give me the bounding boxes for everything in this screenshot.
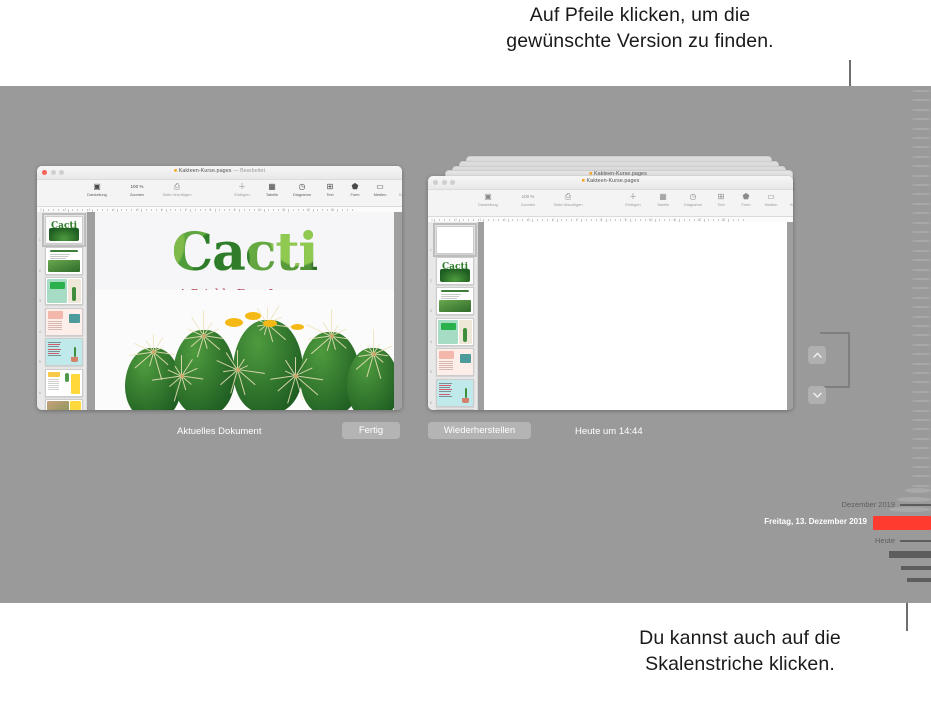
thumbnail-preview [46,400,82,410]
timeline-tick[interactable] [911,184,931,186]
thumbnail-pink-panel[interactable] [436,348,474,376]
cactus-areole [330,334,334,338]
next-version-button[interactable] [808,386,826,404]
timeline-tick[interactable] [911,231,931,233]
version-window-canvas[interactable] [478,222,793,410]
thumbnail-photo-panel[interactable] [45,399,83,410]
callout-top-text: Auf Pfeile klicken, um die gewünschte Ve… [420,2,860,54]
timeline-tick[interactable] [911,137,931,139]
toolbar-darstellung[interactable]: ▣ Darstellung [77,182,117,197]
thumbnail-preview [46,309,82,335]
callout-bottom-text: Du kannst auch auf die Skalenstriche kli… [560,625,920,677]
timeline-tick[interactable] [911,156,931,158]
thumbnail-intro-green[interactable] [45,247,83,275]
timeline-tick[interactable] [911,240,931,242]
restore-button[interactable]: Wiederherstellen [428,422,531,439]
timeline-tick[interactable] [911,146,931,148]
timeline-tick[interactable] [911,419,931,421]
version-toolbar-darstellung[interactable]: ▣ Darstellung [468,192,508,207]
title-edited-state: Bearbeitet [240,168,265,174]
timeline-tick[interactable] [911,203,931,205]
thumbnail-number: 3 [430,309,432,313]
thumbnail-teal-panel[interactable] [45,338,83,366]
timeline-tick[interactable] [907,578,931,582]
timeline-tick[interactable] [911,438,931,440]
timeline-tick-dezember[interactable] [900,504,931,506]
timeline-tick[interactable] [911,372,931,374]
timeline-tick-heute[interactable] [900,540,931,542]
thumbnail-number: 1 [430,248,432,252]
timeline-tick[interactable] [911,391,931,393]
timeline-label-heute[interactable]: Heute [875,536,895,545]
thumbnail-number: 4 [39,330,41,334]
title-separator: — [233,168,238,174]
thumbnail-green-panel[interactable] [436,318,474,346]
timeline-tick[interactable] [911,428,931,430]
version-toolbar-zoomen[interactable]: 100 % Zoomen [508,192,548,207]
current-document-label: Aktuelles Dokument [177,426,261,437]
cacti-cover: Cacti A Prickle Free Lesson [95,212,394,410]
timeline-tick[interactable] [911,118,931,120]
timeline-tick[interactable] [911,457,931,459]
current-window-sidebar[interactable]: CactiA Prickle Free Lesson1234567 [37,212,87,410]
thumbnail-preview: CactiA Prickle Free Lesson [437,258,473,284]
version-timeline-scale[interactable]: Dezember 2019Freitag, 13. Dezember 2019H… [871,86,931,603]
zoom-value-label: 100 % [117,182,157,191]
timeline-tick[interactable] [911,485,931,487]
timeline-tick[interactable] [889,551,931,558]
zoom-icon: 100 % [508,192,548,201]
done-button[interactable]: Fertig [342,422,400,439]
timeline-label-selected[interactable]: Freitag, 13. Dezember 2019 [764,517,867,526]
timeline-tick[interactable] [911,475,931,477]
chevron-up-icon [813,352,822,358]
timeline-tick[interactable] [911,353,931,355]
thumbnail-yellow-panel[interactable] [436,409,474,410]
screenshot-root: Auf Pfeile klicken, um die gewünschte Ve… [0,0,931,702]
timeline-tick[interactable] [911,193,931,195]
thumbnail-preview [46,248,82,274]
timeline-tick[interactable] [911,363,931,365]
timeline-selected-marker[interactable] [873,516,931,530]
timeline-tick[interactable] [911,334,931,336]
thumbnail-number: 6 [39,391,41,395]
chevron-down-icon [813,392,822,398]
thumbnail-number: 6 [430,401,432,405]
timeline-tick[interactable] [911,306,931,308]
timeline-tick[interactable] [911,466,931,468]
thumbnail-number: 4 [430,340,432,344]
cactus-bloom [263,320,277,327]
timeline-tick[interactable] [911,259,931,261]
version-window-toolbar[interactable]: ▣ Darstellung 100 % Zoomen ⎙ Seite hinzu… [428,190,793,217]
timeline-tick[interactable] [911,344,931,346]
timeline-tick[interactable] [911,175,931,177]
thumbnail-cover-cacti[interactable]: CactiA Prickle Free Lesson [436,257,474,285]
thumbnail-number: 2 [39,269,41,273]
cactus-areole [202,334,206,338]
unsaved-dot-icon: ■ [174,168,177,174]
view-icon: ▣ [468,192,508,201]
toolbar-seite-hinzufuegen[interactable]: ⎙ Seite hinzufügen [157,182,197,197]
timeline-tick[interactable] [911,212,931,214]
thumbnail-pink-panel[interactable] [45,308,83,336]
thumbnail-number: 5 [39,360,41,364]
timeline-tick[interactable] [897,497,931,502]
current-window-title: ■ Kakteen-Kurse.pages — Bearbeitet [37,168,402,174]
timeline-tick[interactable] [911,316,931,318]
comment-icon: ◎ [389,182,402,191]
thumbnail-preview [46,370,82,396]
thumbnail-preview [46,278,82,304]
thumbnail-yellow-panel[interactable] [45,369,83,397]
timeline-tick[interactable] [911,269,931,271]
timeline-tick[interactable] [911,165,931,167]
toolbar-zoomen[interactable]: 100 % Zoomen [117,182,157,197]
version-window-title-text: Kakteen-Kurse.pages [587,178,640,184]
version-toolbar-seite-hinzufuegen[interactable]: ⎙ Seite hinzufügen [548,192,588,207]
timeline-tick[interactable] [911,278,931,280]
cacti-title: Cacti [95,226,394,280]
toolbar-kommentar[interactable]: ◎ Kommentar [389,182,402,197]
timeline-tick[interactable] [889,507,931,512]
cactus-areole [180,374,184,378]
thumbnail-number: 3 [39,299,41,303]
version-window-title: ■ Kakteen-Kurse.pages [428,178,793,184]
thumbnail-preview [437,349,473,375]
cactus-lobe [233,320,303,410]
timeline-tick[interactable] [911,109,931,111]
version-window-sidebar[interactable]: 1CactiA Prickle Free Lesson234567 [428,222,478,410]
timeline-tick[interactable] [911,447,931,449]
cactus-areole [152,350,156,354]
current-window-toolbar[interactable]: ▣ Darstellung 100 % Zoomen ⎙ Seite hinzu… [37,180,402,207]
thumbnail-preview: CactiA Prickle Free Lesson [46,217,82,243]
cactus-areole [372,352,376,356]
version-toolbar-kommentar[interactable]: ◎ Kommentar [780,192,793,207]
current-window-titlebar: ■ Kakteen-Kurse.pages — Bearbeitet [37,166,402,180]
thumbnail-preview [46,339,82,365]
version-timestamp: Heute um 14:44 [575,426,643,437]
current-window-title-text: Kakteen-Kurse.pages [179,168,232,174]
add-page-icon: ⎙ [157,182,197,191]
thumbnail-blank[interactable] [436,226,474,254]
timeline-tick[interactable] [911,287,931,289]
thumbnail-intro-green[interactable] [436,287,474,315]
timeline-tick[interactable] [901,566,931,570]
cactus-bloom [225,318,243,327]
thumbnail-number: 5 [430,370,432,374]
timeline-tick[interactable] [911,90,931,92]
current-document-window[interactable]: ■ Kakteen-Kurse.pages — Bearbeitet ▣ Dar… [37,166,402,410]
view-icon: ▣ [77,182,117,191]
timeline-tick[interactable] [911,128,931,130]
add-page-icon: ⎙ [548,192,588,201]
timeline-tick[interactable] [911,325,931,327]
timeline-tick[interactable] [911,381,931,383]
current-window-canvas[interactable]: Cacti A Prickle Free Lesson [87,212,402,410]
thumbnail-number: 2 [430,279,432,283]
cactus-bloom [245,312,261,320]
version-unsaved-dot-icon: ■ [582,178,585,184]
thumbnail-cover-cacti[interactable]: CactiA Prickle Free Lesson [45,216,83,244]
timeline-tick[interactable] [905,488,931,493]
version-window[interactable]: ■ Kakteen-Kurse.pages ▣ Darstellung 100 … [428,176,793,410]
timeline-tick[interactable] [911,99,931,101]
cactus-photo [95,290,394,410]
cactus-areole [294,374,298,378]
current-window-page: Cacti A Prickle Free Lesson [95,212,394,410]
version-window-titlebar: ■ Kakteen-Kurse.pages [428,176,793,190]
timeline-tick[interactable] [911,297,931,299]
timeline-label-dezember[interactable]: Dezember 2019 [842,500,895,509]
thumbnail-preview [437,319,473,345]
timeline-tick[interactable] [911,400,931,402]
thumbnail-preview [437,380,473,406]
thumbnail-number: 1 [39,238,41,242]
cactus-bloom [291,324,304,330]
thumbnail-green-panel[interactable] [45,277,83,305]
timeline-tick[interactable] [911,410,931,412]
cactus-areole [236,368,240,372]
timeline-tick[interactable] [911,222,931,224]
thumbnail-preview [437,288,473,314]
comment-icon: ◎ [780,192,793,201]
thumbnail-teal-panel[interactable] [436,379,474,407]
previous-version-button[interactable] [808,346,826,364]
version-window-page [484,222,787,410]
timeline-tick[interactable] [911,250,931,252]
